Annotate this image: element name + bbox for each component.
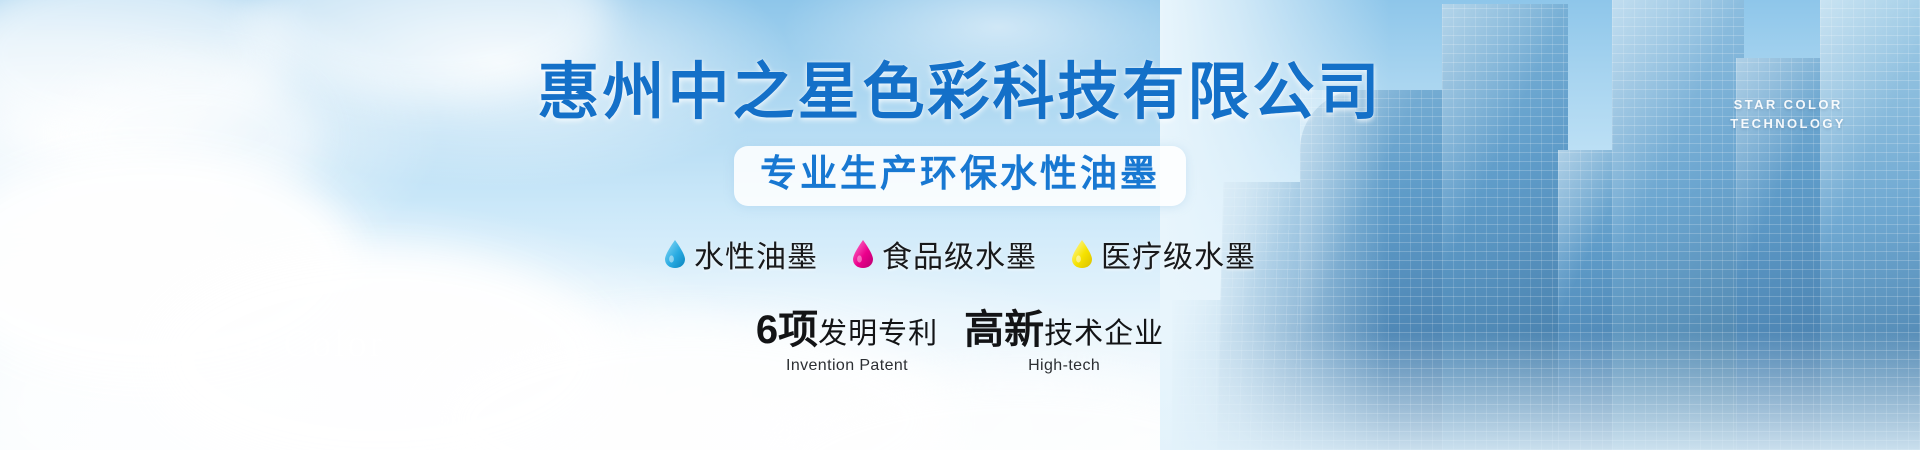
badge-main-line: 6项发明专利 [756,310,938,350]
page-title: 惠州中之星色彩科技有限公司 [537,62,1382,124]
feature-label: 医疗级水墨 [1101,232,1256,276]
badge-main-line: 高新技术企业 [964,310,1164,350]
feature-item: 食品级水墨 [852,232,1037,276]
badge-strong-text: 6项 [756,308,818,352]
badge-rest-text: 发明专利 [818,318,938,350]
company-hero-banner: STAR COLOR TECHNOLOGY Star Color 惠州中之星色彩… [0,0,1920,450]
credential-badges: 6项发明专利 Invention Patent 高新技术企业 High-tech [756,310,1164,375]
badge-rest-text: 技术企业 [1044,318,1164,350]
subtitle-pill: 专业生产环保水性油墨 [734,146,1186,206]
badge-high-tech: 高新技术企业 High-tech [964,310,1164,375]
water-drop-icon [664,239,686,269]
badge-english-text: Invention Patent [756,357,938,375]
water-drop-icon [1071,239,1093,269]
water-drop-icon [852,239,874,269]
badge-english-text: High-tech [964,357,1164,375]
feature-item: 水性油墨 [664,232,818,276]
feature-label: 食品级水墨 [882,232,1037,276]
subtitle-text: 专业生产环保水性油墨 [760,154,1160,195]
feature-list: 水性油墨 食品级水墨 [664,232,1256,276]
feature-label: 水性油墨 [694,232,818,276]
feature-item: 医疗级水墨 [1071,232,1256,276]
badge-invention-patent: 6项发明专利 Invention Patent [756,310,938,375]
badge-strong-text: 高新 [964,308,1044,352]
banner-content: 惠州中之星色彩科技有限公司 专业生产环保水性油墨 水性油墨 [0,0,1920,450]
